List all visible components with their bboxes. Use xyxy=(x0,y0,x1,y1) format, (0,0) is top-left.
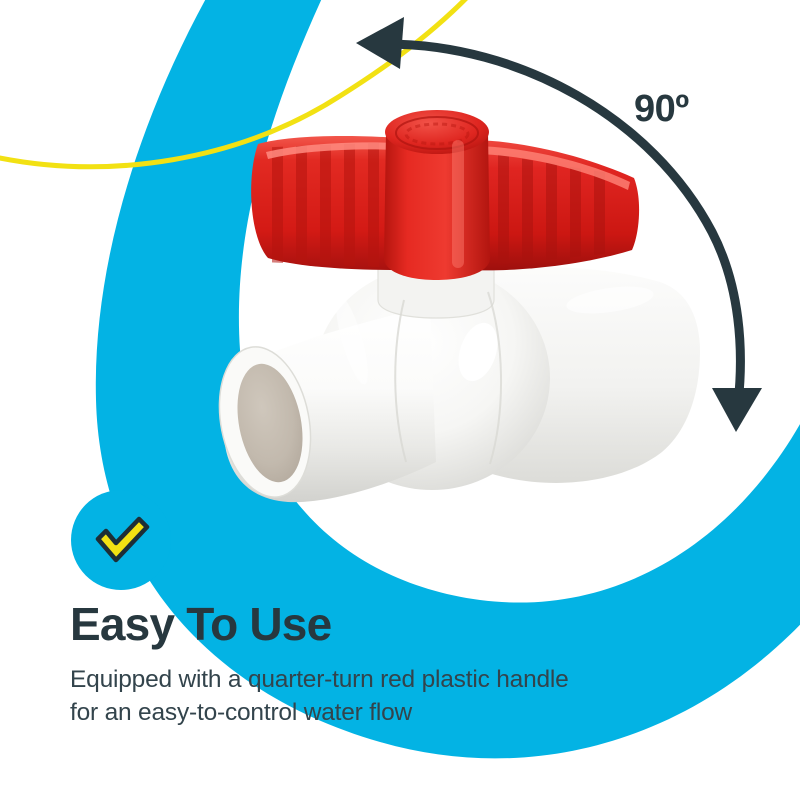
feature-description: Equipped with a quarter-turn red plastic… xyxy=(70,663,570,730)
angle-label: 90º xyxy=(634,88,689,131)
check-badge xyxy=(71,490,171,590)
page-title: Easy To Use xyxy=(70,600,730,649)
feature-card: 90º Easy To Use Equipped with a quarter-… xyxy=(0,0,800,800)
arrowhead-left-icon xyxy=(356,17,404,69)
feature-text-block: Easy To Use Equipped with a quarter-turn… xyxy=(70,600,730,729)
arrowhead-down-icon xyxy=(712,388,762,432)
